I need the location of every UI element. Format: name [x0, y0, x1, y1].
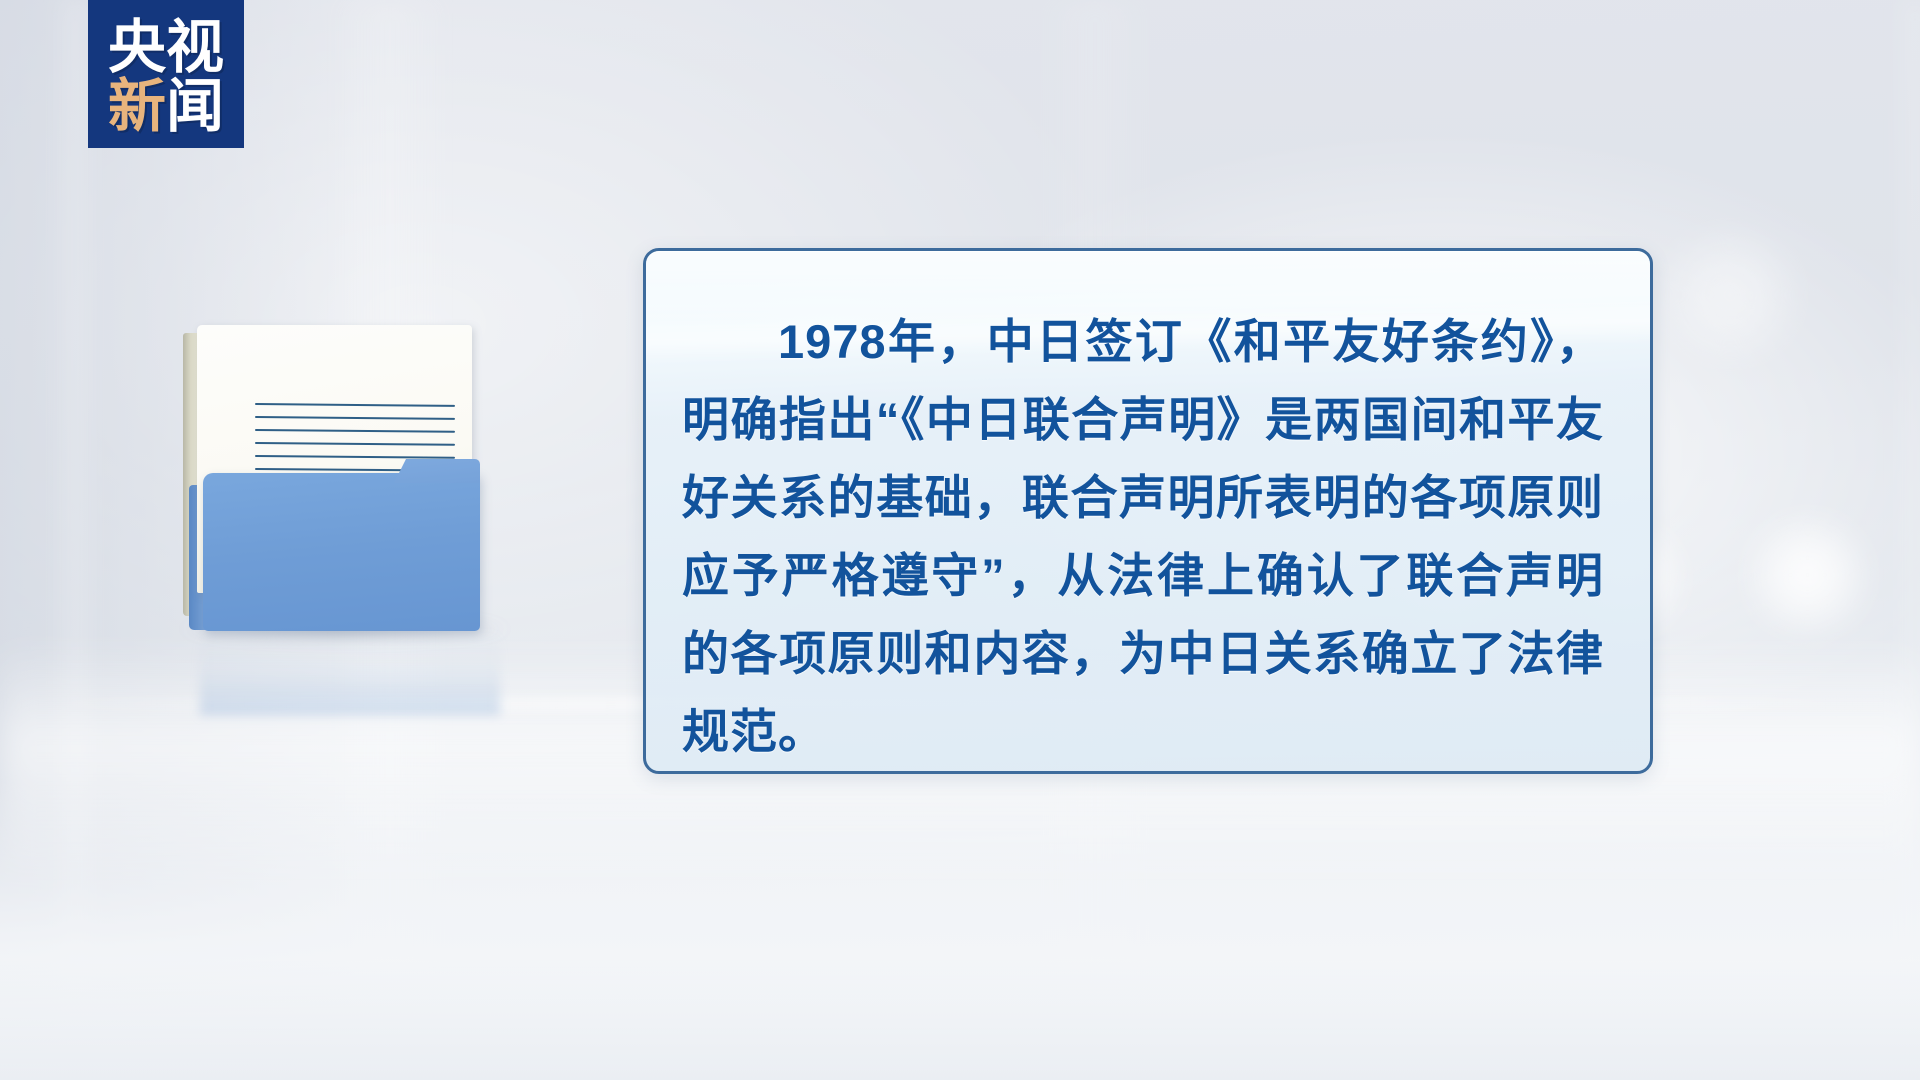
document-rule-line [255, 403, 455, 407]
background-light-stripe [55, 0, 95, 1080]
background-vignette [0, 960, 1920, 1080]
background-light-stripe [1895, 0, 1920, 1080]
cctv-news-logo: 央视 新闻 [88, 0, 244, 148]
broadcast-graphic-stage: 央视 新闻 1978年，中日签订《和平友好条约》，明确指出 [0, 0, 1920, 1080]
logo-char-wen: 闻 [166, 74, 224, 139]
background-bokeh-light [1655, 230, 1805, 360]
document-folder-icon [183, 325, 488, 630]
document-rule-line [255, 442, 455, 446]
document-rule-line [255, 416, 455, 420]
logo-line-yangshi: 央视 [108, 20, 224, 77]
logo-char-xin: 新 [108, 74, 166, 139]
folder-front-panel [203, 473, 480, 631]
quote-panel: 1978年，中日签订《和平友好条约》，明确指出“《中日联合声明》是两国间和平友好… [643, 248, 1653, 774]
document-rule-line [255, 429, 455, 433]
folder-reflection [200, 630, 500, 715]
background-bokeh-light [1740, 515, 1875, 635]
document-rule-line [255, 455, 455, 459]
quote-body-text: 1978年，中日签订《和平友好条约》，明确指出“《中日联合声明》是两国间和平友好… [646, 251, 1650, 771]
background-floor [0, 780, 1920, 1080]
logo-line-xinwen: 新闻 [108, 79, 224, 136]
